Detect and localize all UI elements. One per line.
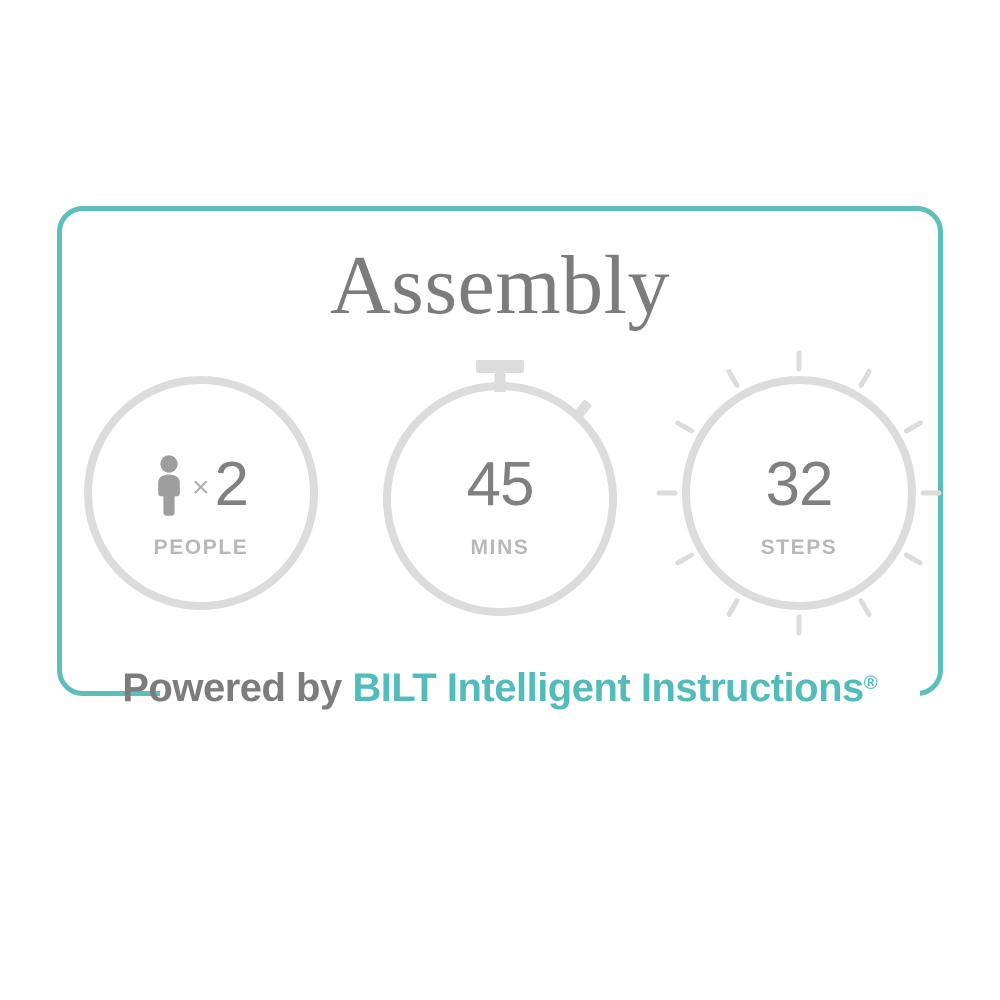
- assembly-info-card: Assembly × 2 PEOPLE: [0, 0, 1000, 1000]
- page-title: Assembly: [0, 238, 1000, 334]
- sun-ticks-icon: [668, 358, 930, 628]
- people-ring-icon: [70, 358, 332, 628]
- footer-powered-by-text: Powered by: [122, 666, 352, 710]
- stat-mins: 45 MINS: [369, 358, 631, 628]
- stopwatch-icon: [369, 358, 631, 628]
- footer-brand-text: BILT Intelligent Instructions: [352, 666, 863, 710]
- stat-steps: 32 STEPS: [668, 358, 930, 628]
- registered-trademark-icon: ®: [864, 673, 878, 694]
- stats-row: × 2 PEOPLE 45 MINS: [70, 358, 930, 628]
- stat-people: × 2 PEOPLE: [70, 358, 332, 628]
- footer-attribution: Powered by BILT Intelligent Instructions…: [0, 662, 1000, 723]
